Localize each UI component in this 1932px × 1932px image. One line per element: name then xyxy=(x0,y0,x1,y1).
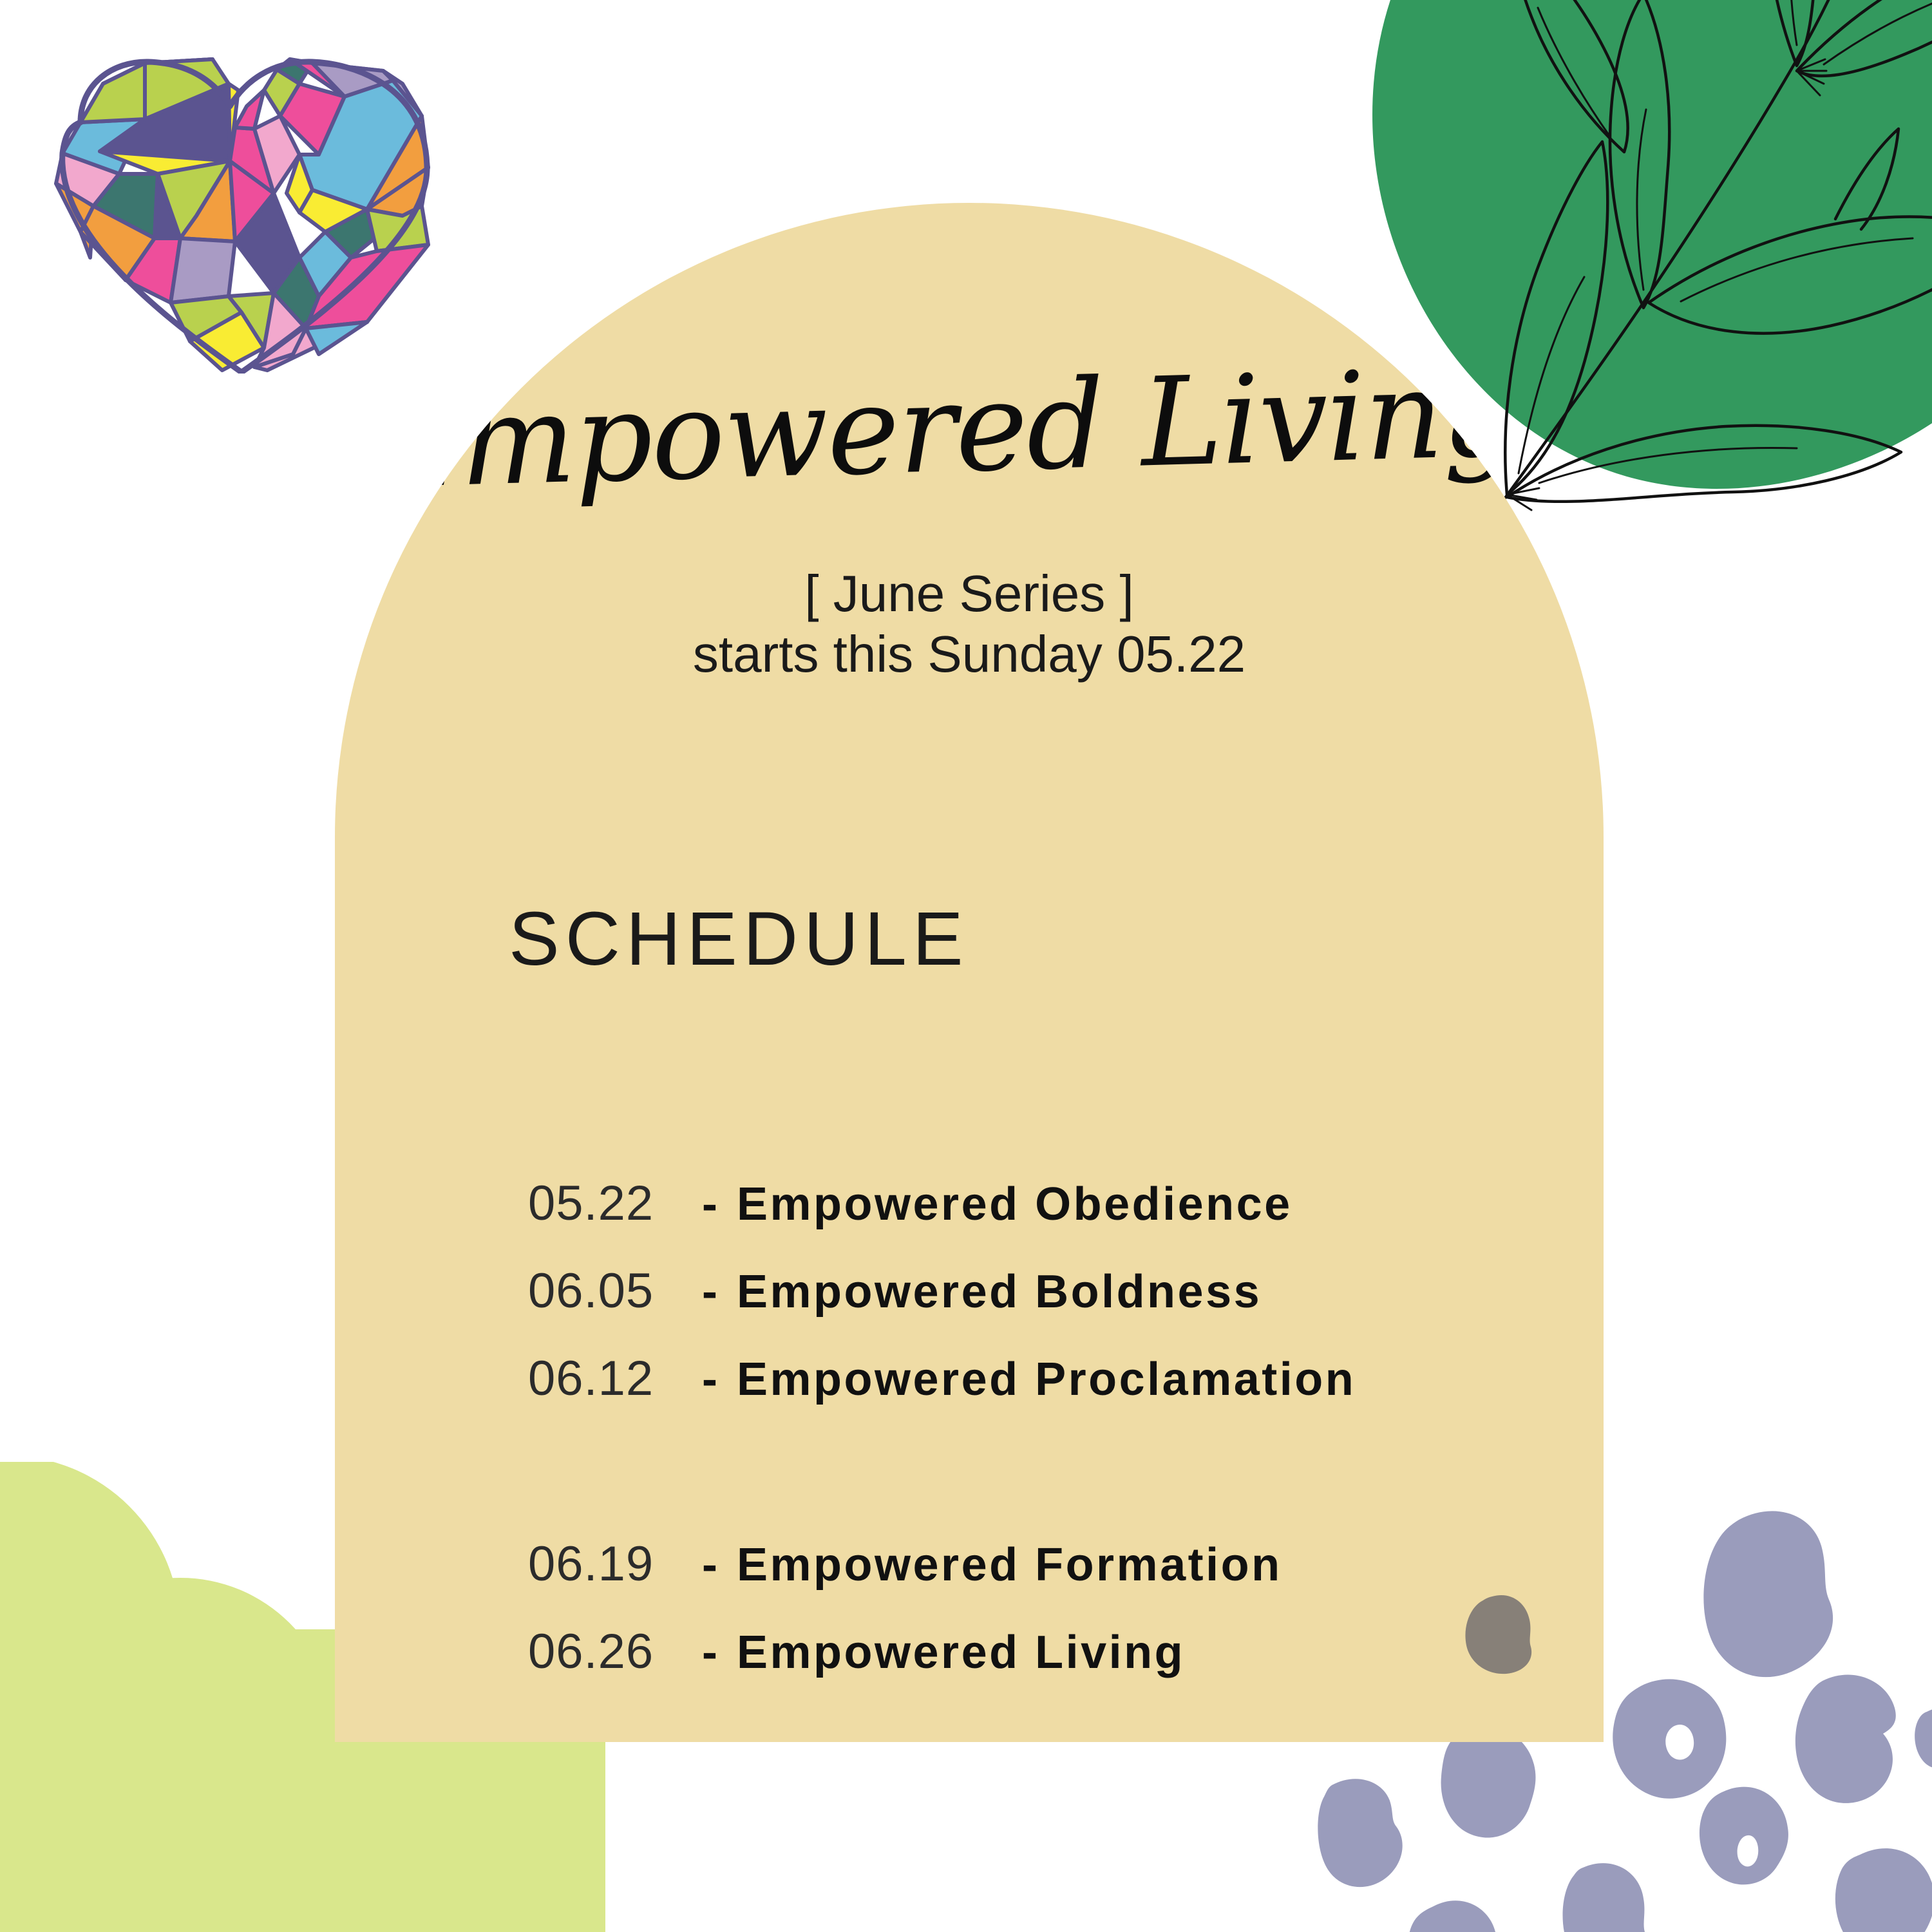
schedule-dash: - xyxy=(702,1353,737,1406)
series-start-line: starts this Sunday 05.22 xyxy=(335,624,1604,685)
schedule-title: Empowered Formation xyxy=(737,1539,1282,1591)
schedule-heading: SCHEDULE xyxy=(509,895,969,983)
grey-pebble xyxy=(1459,1594,1539,1674)
schedule-list: 05.22 - Empowered Obedience 06.05 - Empo… xyxy=(528,1175,1558,1711)
page-title: Empowered Living! xyxy=(335,350,1604,507)
schedule-dash: - xyxy=(702,1626,737,1679)
schedule-row: 06.12 - Empowered Proclamation xyxy=(528,1350,1558,1420)
schedule-title: Empowered Obedience xyxy=(737,1178,1293,1231)
schedule-row: 06.19 - Empowered Formation xyxy=(528,1536,1558,1605)
schedule-row: 06.26 - Empowered Living xyxy=(528,1624,1558,1693)
schedule-row: 05.22 - Empowered Obedience xyxy=(528,1175,1558,1245)
schedule-date: 06.26 xyxy=(528,1624,702,1680)
schedule-title: Empowered Boldness xyxy=(737,1265,1262,1318)
schedule-dash: - xyxy=(702,1265,737,1318)
schedule-dash: - xyxy=(702,1539,737,1591)
schedule-date: 06.19 xyxy=(528,1536,702,1592)
schedule-date: 05.22 xyxy=(528,1175,702,1231)
schedule-title: Empowered Living xyxy=(737,1626,1185,1679)
series-subtitle: [ June Series ] starts this Sunday 05.22 xyxy=(335,563,1604,685)
series-label: [ June Series ] xyxy=(335,563,1604,624)
schedule-title: Empowered Proclamation xyxy=(737,1353,1356,1406)
arch-card: Empowered Living! [ June Series ] starts… xyxy=(335,203,1604,1742)
schedule-row: 06.05 - Empowered Boldness xyxy=(528,1263,1558,1332)
schedule-date: 06.05 xyxy=(528,1263,702,1319)
schedule-dash: - xyxy=(702,1178,737,1231)
poster-canvas: Empowered Living! [ June Series ] starts… xyxy=(0,0,1932,1932)
schedule-date: 06.12 xyxy=(528,1350,702,1406)
